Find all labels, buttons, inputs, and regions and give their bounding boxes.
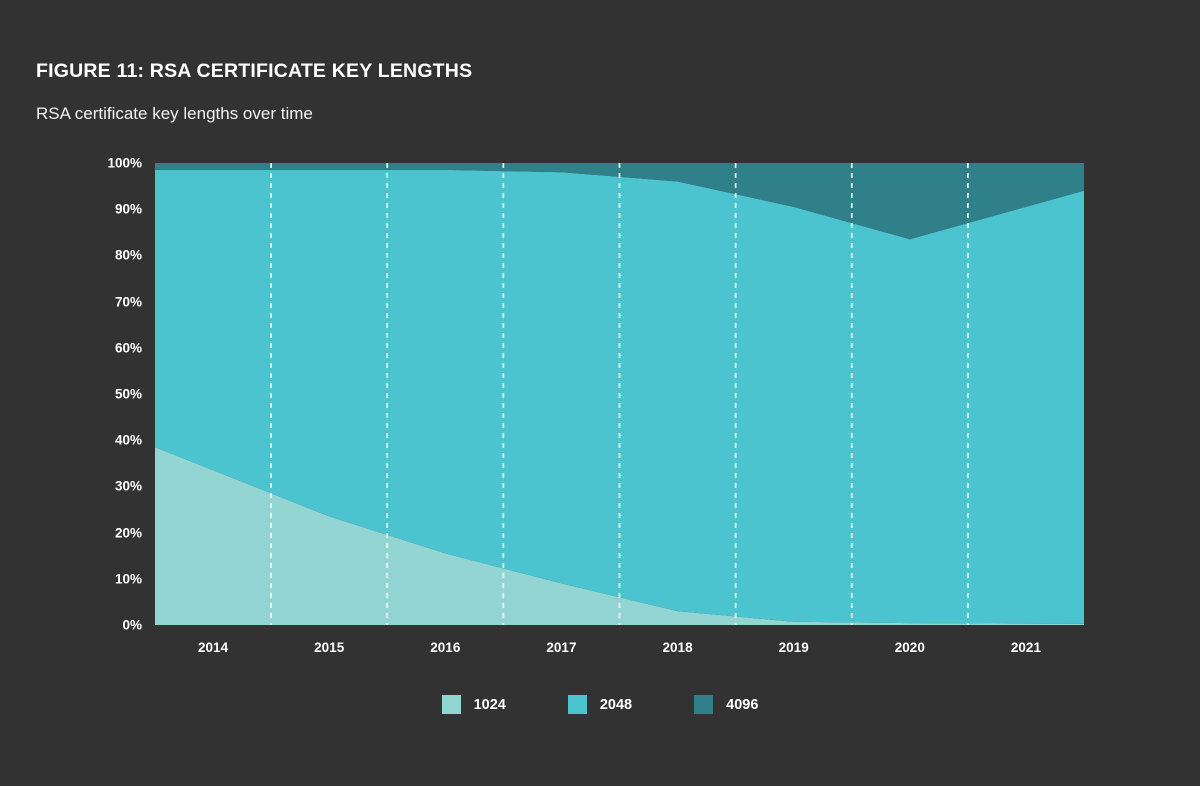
stacked-area-plot xyxy=(155,163,1084,625)
x-axis-tick-label: 2014 xyxy=(198,640,228,655)
y-axis-tick-label: 90% xyxy=(86,202,142,217)
y-axis-tick-label: 0% xyxy=(86,618,142,633)
y-axis-tick-label: 70% xyxy=(86,294,142,309)
x-axis-tick-label: 2016 xyxy=(430,640,460,655)
y-axis-tick-label: 10% xyxy=(86,571,142,586)
figure-page: FIGURE 11: RSA CERTIFICATE KEY LENGTHS R… xyxy=(0,0,1200,786)
y-axis-tick-label: 20% xyxy=(86,525,142,540)
legend-item-label: 1024 xyxy=(474,697,506,713)
y-axis-tick-label: 30% xyxy=(86,479,142,494)
legend-item[interactable]: 1024 xyxy=(442,695,506,714)
x-axis-tick-label: 2020 xyxy=(895,640,925,655)
legend-item-label: 4096 xyxy=(726,697,758,713)
legend-swatch-icon xyxy=(694,695,713,714)
legend-item[interactable]: 2048 xyxy=(568,695,632,714)
legend-swatch-icon xyxy=(442,695,461,714)
x-axis-tick-label: 2015 xyxy=(314,640,344,655)
x-axis-tick-label: 2019 xyxy=(779,640,809,655)
y-axis: 0%10%20%30%40%50%60%70%80%90%100% xyxy=(86,163,142,625)
y-axis-tick-label: 40% xyxy=(86,433,142,448)
x-axis: 20142015201620172018201920202021 xyxy=(155,640,1084,662)
chart-legend: 102420484096 xyxy=(0,695,1200,714)
x-axis-tick-label: 2021 xyxy=(1011,640,1041,655)
y-axis-tick-label: 100% xyxy=(86,156,142,171)
legend-item[interactable]: 4096 xyxy=(694,695,758,714)
chart-container: 0%10%20%30%40%50%60%70%80%90%100% 201420… xyxy=(0,0,1200,786)
x-axis-tick-label: 2018 xyxy=(663,640,693,655)
y-axis-tick-label: 80% xyxy=(86,248,142,263)
legend-item-label: 2048 xyxy=(600,697,632,713)
legend-swatch-icon xyxy=(568,695,587,714)
x-axis-tick-label: 2017 xyxy=(546,640,576,655)
y-axis-tick-label: 60% xyxy=(86,340,142,355)
y-axis-tick-label: 50% xyxy=(86,387,142,402)
